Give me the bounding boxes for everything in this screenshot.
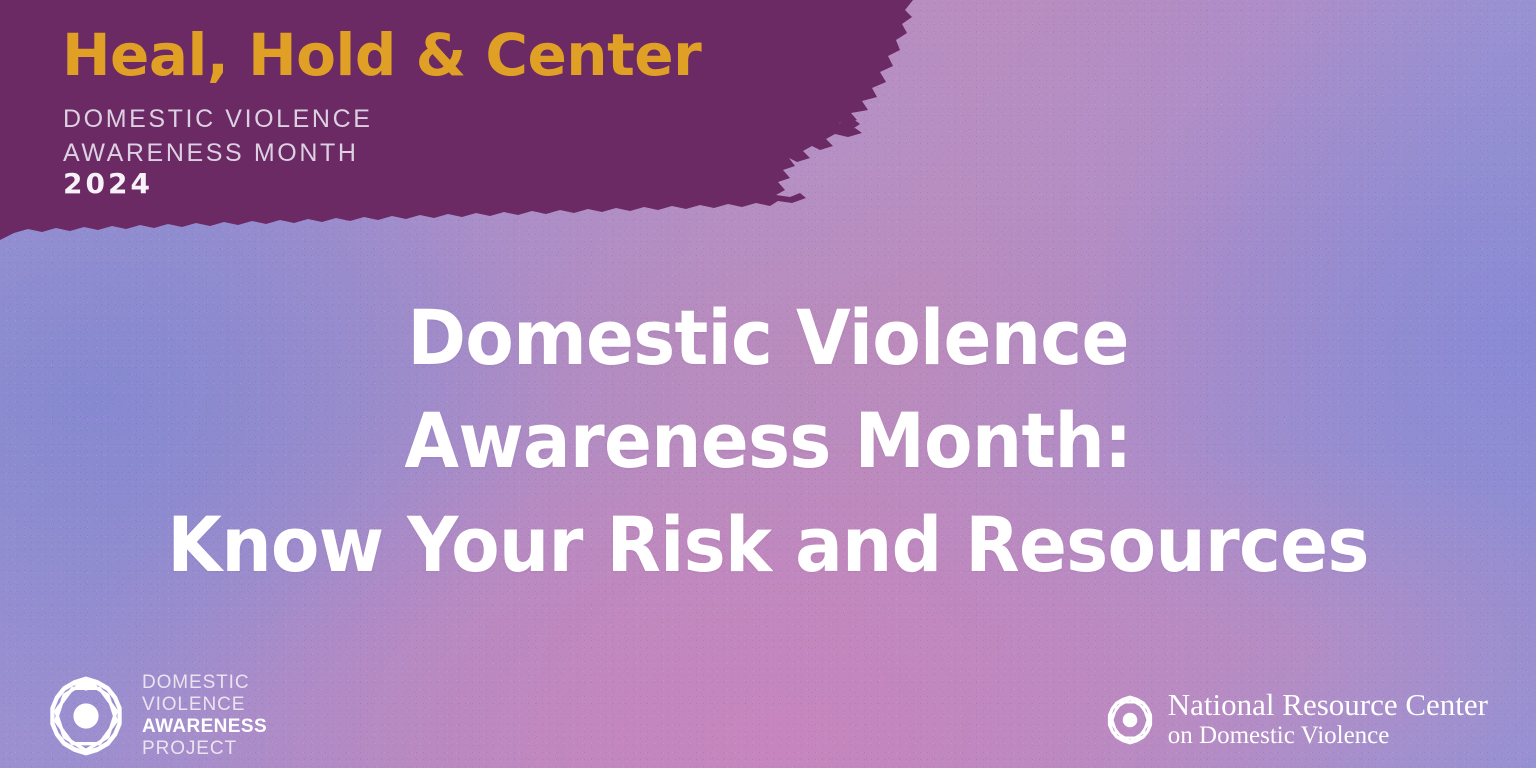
dvap-line-4: PROJECT (142, 738, 267, 760)
dvap-line-1: DOMESTIC (142, 672, 267, 694)
rosette-icon (1104, 694, 1156, 746)
banner-headline: Heal, Hold & Center (62, 26, 701, 84)
dvap-line-3: AWARENESS (142, 716, 267, 738)
dvap-logo-text: DOMESTIC VIOLENCE AWARENESS PROJECT (142, 672, 267, 760)
mandala-center-dot (73, 703, 98, 728)
torn-paper-banner: Heal, Hold & Center DOMESTIC VIOLENCE AW… (0, 0, 960, 270)
page-title: Domestic Violence Awareness Month: Know … (54, 286, 1482, 596)
title-line-1: Domestic Violence (54, 286, 1482, 389)
dvam-poster: Heal, Hold & Center DOMESTIC VIOLENCE AW… (0, 0, 1536, 768)
title-line-2: Awareness Month: (54, 389, 1482, 492)
nrcdv-line-2: on Domestic Violence (1168, 722, 1488, 750)
nrcdv-logo: National Resource Center on Domestic Vio… (1104, 689, 1488, 750)
dvap-line-2: VIOLENCE (142, 694, 267, 716)
rosette-center-dot (1123, 712, 1138, 727)
banner-year: 2024 (63, 167, 153, 200)
mandala-star-icon (44, 674, 128, 758)
nrcdv-logo-text: National Resource Center on Domestic Vio… (1168, 689, 1488, 750)
nrcdv-line-1: National Resource Center (1168, 689, 1488, 722)
dvap-logo: DOMESTIC VIOLENCE AWARENESS PROJECT (44, 672, 267, 760)
banner-subtitle: DOMESTIC VIOLENCE AWARENESS MONTH (63, 103, 373, 170)
title-line-3: Know Your Risk and Resources (54, 493, 1482, 596)
